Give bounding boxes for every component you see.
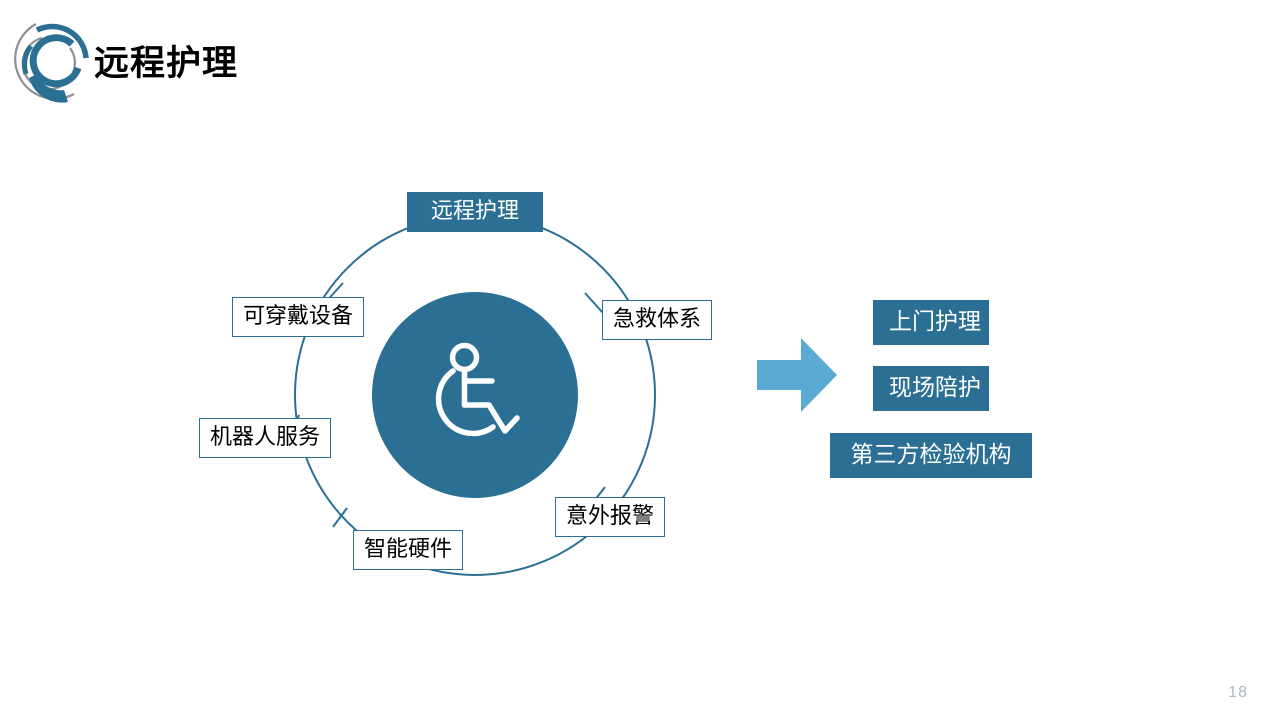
wheelchair-accessibility-icon <box>419 339 531 451</box>
node-chip-wearable[interactable]: 可穿戴设备 <box>232 297 364 337</box>
concentric-arcs-logo <box>8 16 96 108</box>
node-chip-robot[interactable]: 机器人服务 <box>199 418 331 458</box>
node-chip-alarm[interactable]: 意外报警 <box>555 497 665 537</box>
page-title: 远程护理 <box>94 42 238 86</box>
output-chip-home-care[interactable]: 上门护理 <box>873 300 989 345</box>
right-arrow-icon <box>757 338 837 412</box>
output-chip-onsite-company[interactable]: 现场陪护 <box>873 366 989 411</box>
center-hub <box>372 292 578 498</box>
slide-header: 远程护理 <box>0 0 1280 130</box>
slide-canvas: 远程护理 <box>0 0 1280 720</box>
node-chip-smart[interactable]: 智能硬件 <box>353 530 463 570</box>
node-chip-top[interactable]: 远程护理 <box>407 192 543 232</box>
node-chip-rescue[interactable]: 急救体系 <box>602 300 712 340</box>
page-number: 18 <box>1228 684 1248 702</box>
output-chip-third-party[interactable]: 第三方检验机构 <box>830 433 1032 478</box>
